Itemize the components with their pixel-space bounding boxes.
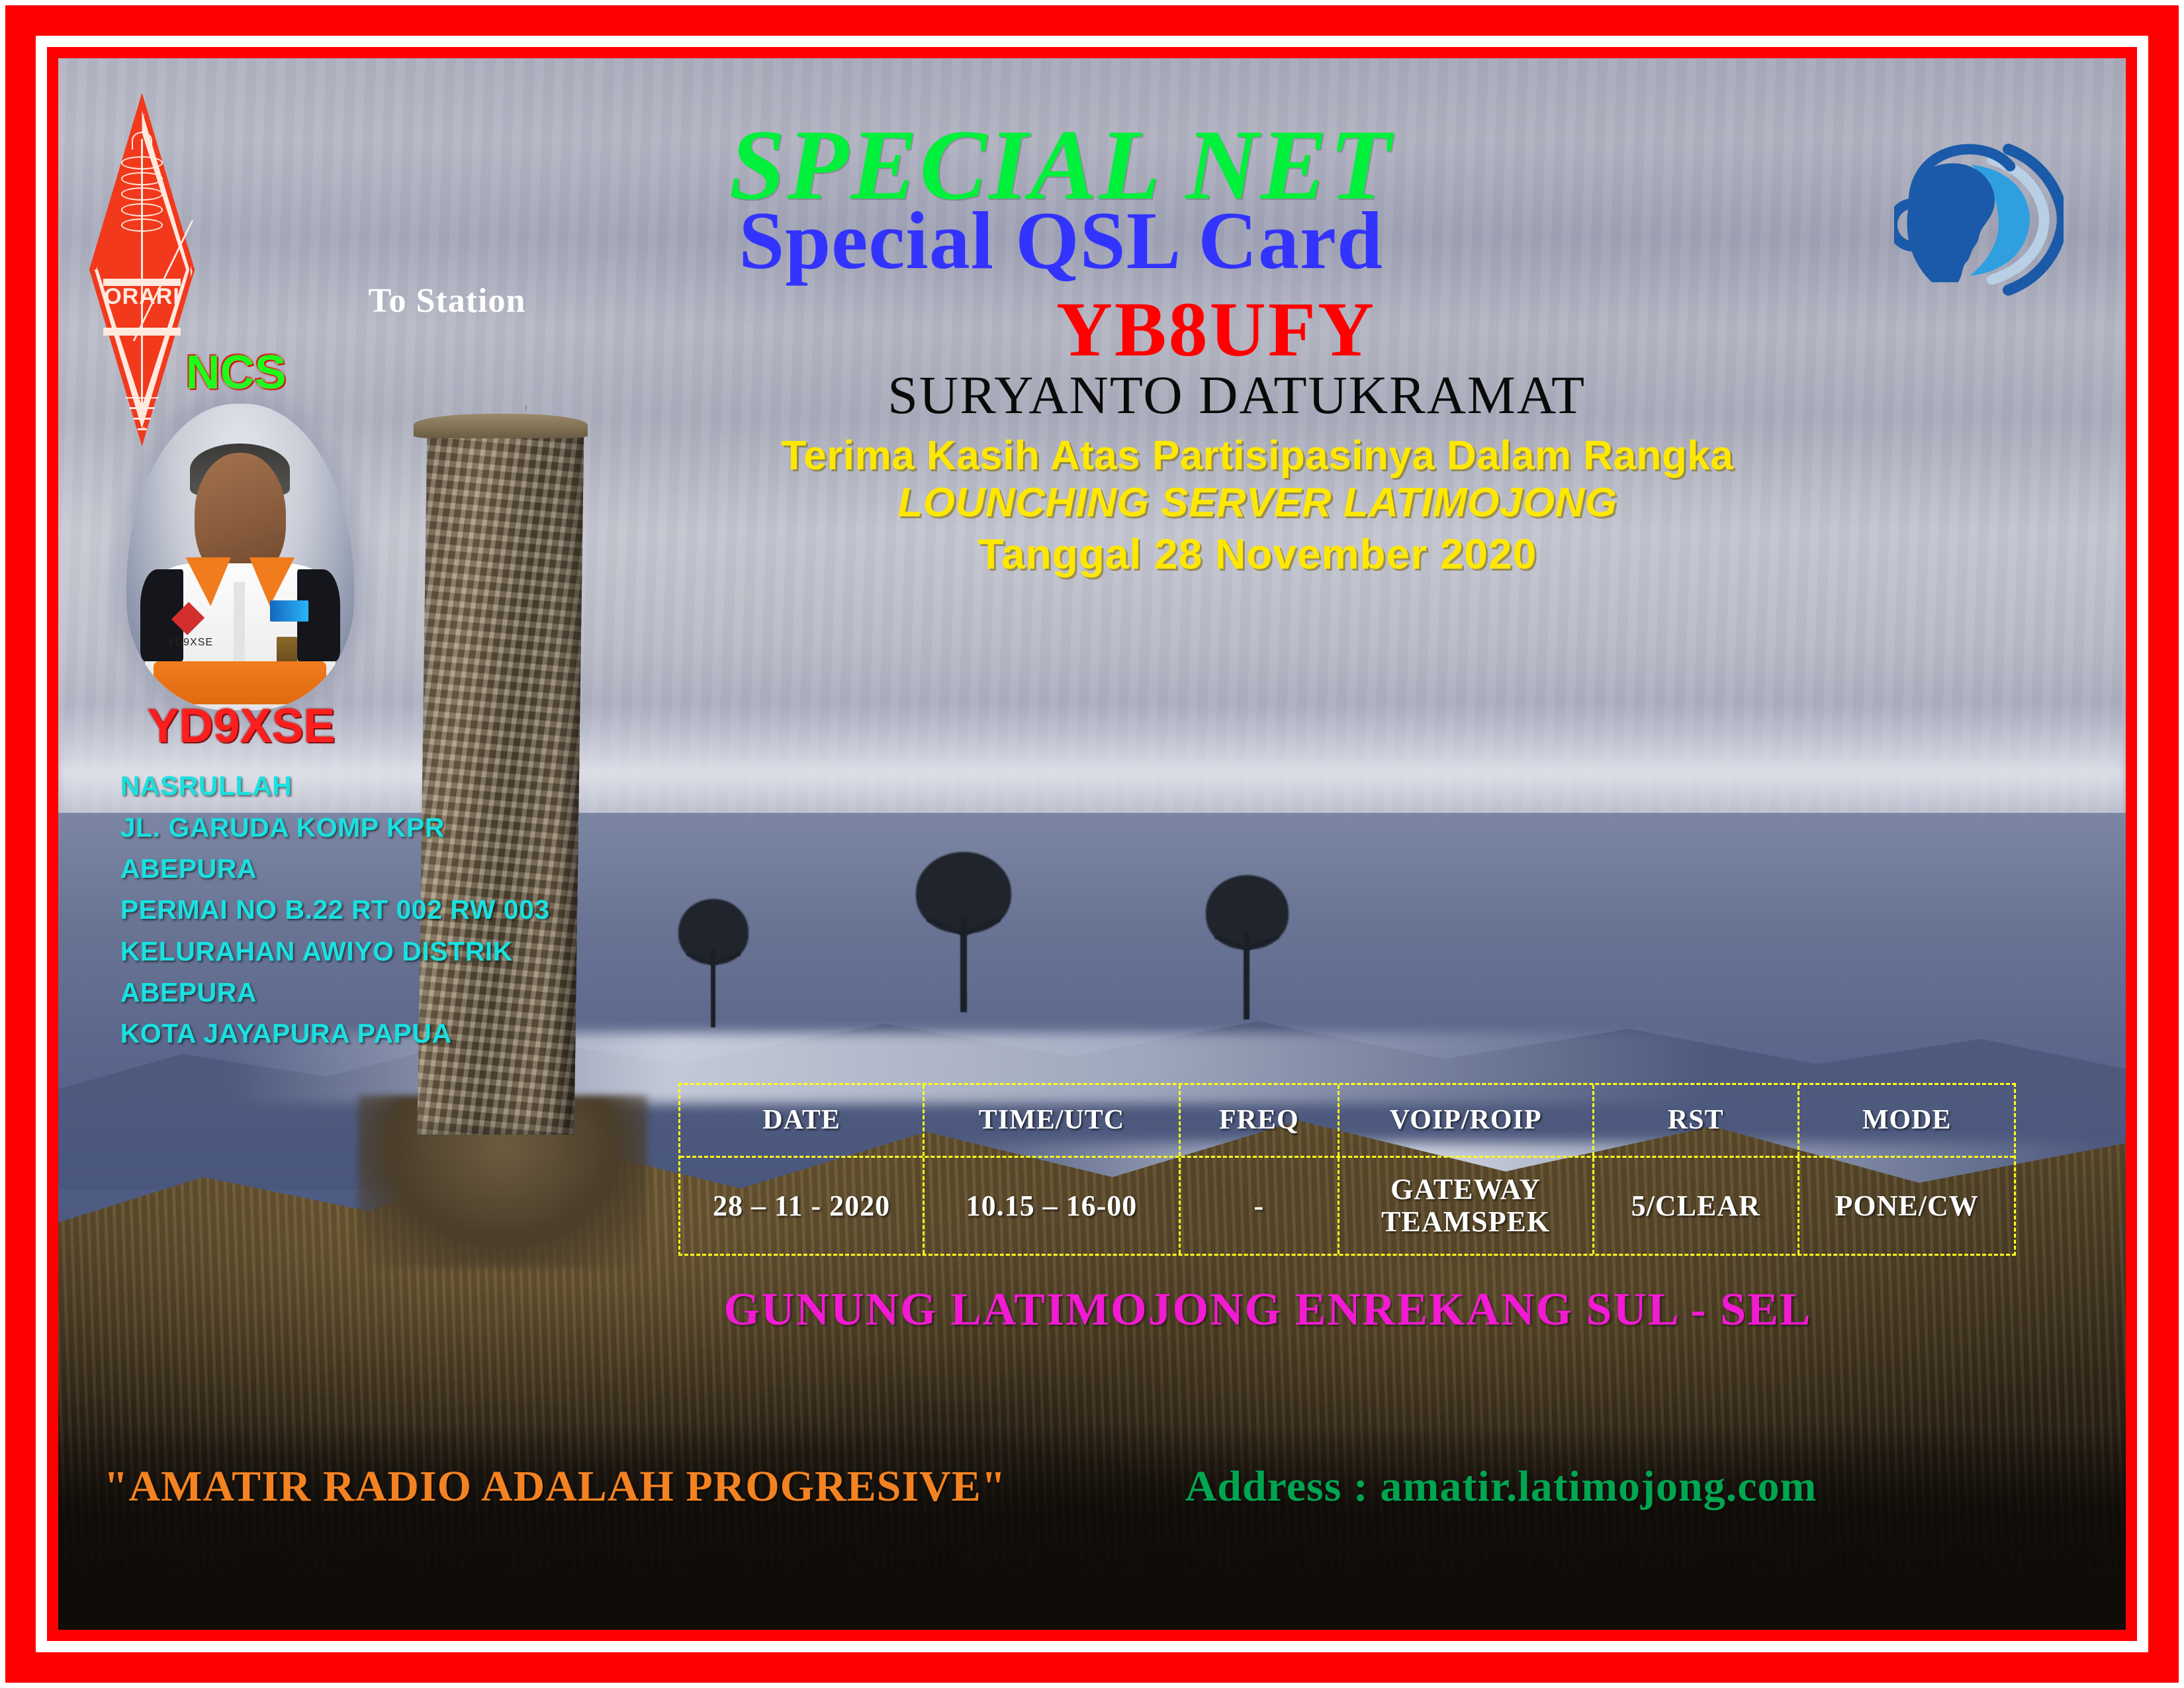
address-line: ABEPURA bbox=[120, 972, 658, 1013]
table-row: 28 – 11 - 2020 10.15 – 16-00 - GATEWAY T… bbox=[680, 1156, 2014, 1254]
qsl-card: ORARI bbox=[0, 0, 2184, 1688]
address-line: KOTA JAYAPURA PAPUA bbox=[120, 1013, 658, 1054]
address-line: PERMAI NO B.22 RT 002 RW 003 bbox=[120, 889, 658, 930]
qso-table: DATE TIME/UTC FREQ VOIP/ROIP RST MODE 28… bbox=[678, 1083, 2016, 1256]
event-name: LOUNCHING SERVER LATIMOJONG bbox=[741, 483, 1774, 524]
column-header-mode: MODE bbox=[1799, 1085, 2014, 1156]
station-callsign: YB8UFY bbox=[844, 291, 1588, 369]
tree-silhouette bbox=[1206, 875, 1289, 1017]
avatar-sash bbox=[154, 661, 326, 704]
column-header-time: TIME/UTC bbox=[925, 1085, 1181, 1156]
cell-mode: PONE/CW bbox=[1799, 1158, 2014, 1254]
address-line: ABEPURA bbox=[120, 848, 658, 889]
page-subtitle: Special QSL Card bbox=[461, 200, 1661, 282]
column-header-rst: RST bbox=[1594, 1085, 1799, 1156]
cell-date: 28 – 11 - 2020 bbox=[680, 1158, 925, 1254]
pillar-grass-wisp bbox=[525, 406, 608, 447]
website-address: Address : amatir.latimojong.com bbox=[1185, 1465, 1817, 1509]
column-header-date: DATE bbox=[680, 1085, 925, 1156]
location-text: GUNUNG LATIMOJONG ENREKANG SUL - SEL bbox=[647, 1287, 1888, 1333]
table-header-row: DATE TIME/UTC FREQ VOIP/ROIP RST MODE bbox=[680, 1085, 2014, 1156]
motto-text: "AMATIR RADIO ADALAH PROGRESIVE" bbox=[104, 1465, 1007, 1509]
address-line: NASRULLAH bbox=[120, 765, 658, 806]
to-station-label: To Station bbox=[369, 281, 526, 320]
ncs-callsign: YD9XSE bbox=[112, 702, 371, 750]
column-header-voip-roip: VOIP/ROIP bbox=[1340, 1085, 1594, 1156]
operator-name: SURYANTO DATUKRAMAT bbox=[741, 368, 1733, 422]
cell-rst: 5/CLEAR bbox=[1594, 1158, 1799, 1254]
tree-silhouette bbox=[678, 899, 749, 1025]
cell-freq: - bbox=[1181, 1158, 1340, 1254]
address-line: JL. GARUDA KOMP KPR bbox=[120, 807, 658, 848]
cell-time: 10.15 – 16-00 bbox=[925, 1158, 1181, 1254]
thanks-message: Terima Kasih Atas Partisipasinya Dalam R… bbox=[741, 436, 1774, 477]
address-block: NASRULLAH JL. GARUDA KOMP KPR ABEPURA PE… bbox=[120, 765, 658, 1054]
orari-rule-bottom bbox=[103, 328, 181, 336]
ncs-label: NCS bbox=[132, 349, 339, 397]
cell-voip-roip: GATEWAY TEAMSPEK bbox=[1340, 1158, 1594, 1254]
event-date: Tanggal 28 November 2020 bbox=[741, 533, 1774, 575]
avatar-patch-right bbox=[270, 600, 308, 622]
column-header-freq: FREQ bbox=[1181, 1085, 1340, 1156]
radio-headphones-logo bbox=[1894, 89, 2064, 349]
orari-wordmark: ORARI bbox=[89, 285, 195, 308]
address-line: KELURAHAN AWIYO DISTRIK bbox=[120, 931, 658, 972]
avatar-uniform-callsign: YD9XSE bbox=[167, 637, 213, 649]
tree-silhouette bbox=[916, 852, 1011, 1009]
foreground-shadow bbox=[58, 1425, 2126, 1630]
background-photo: ORARI bbox=[58, 58, 2126, 1630]
headphones-head-icon bbox=[1894, 89, 2064, 349]
antenna-ground-icon bbox=[125, 397, 159, 429]
